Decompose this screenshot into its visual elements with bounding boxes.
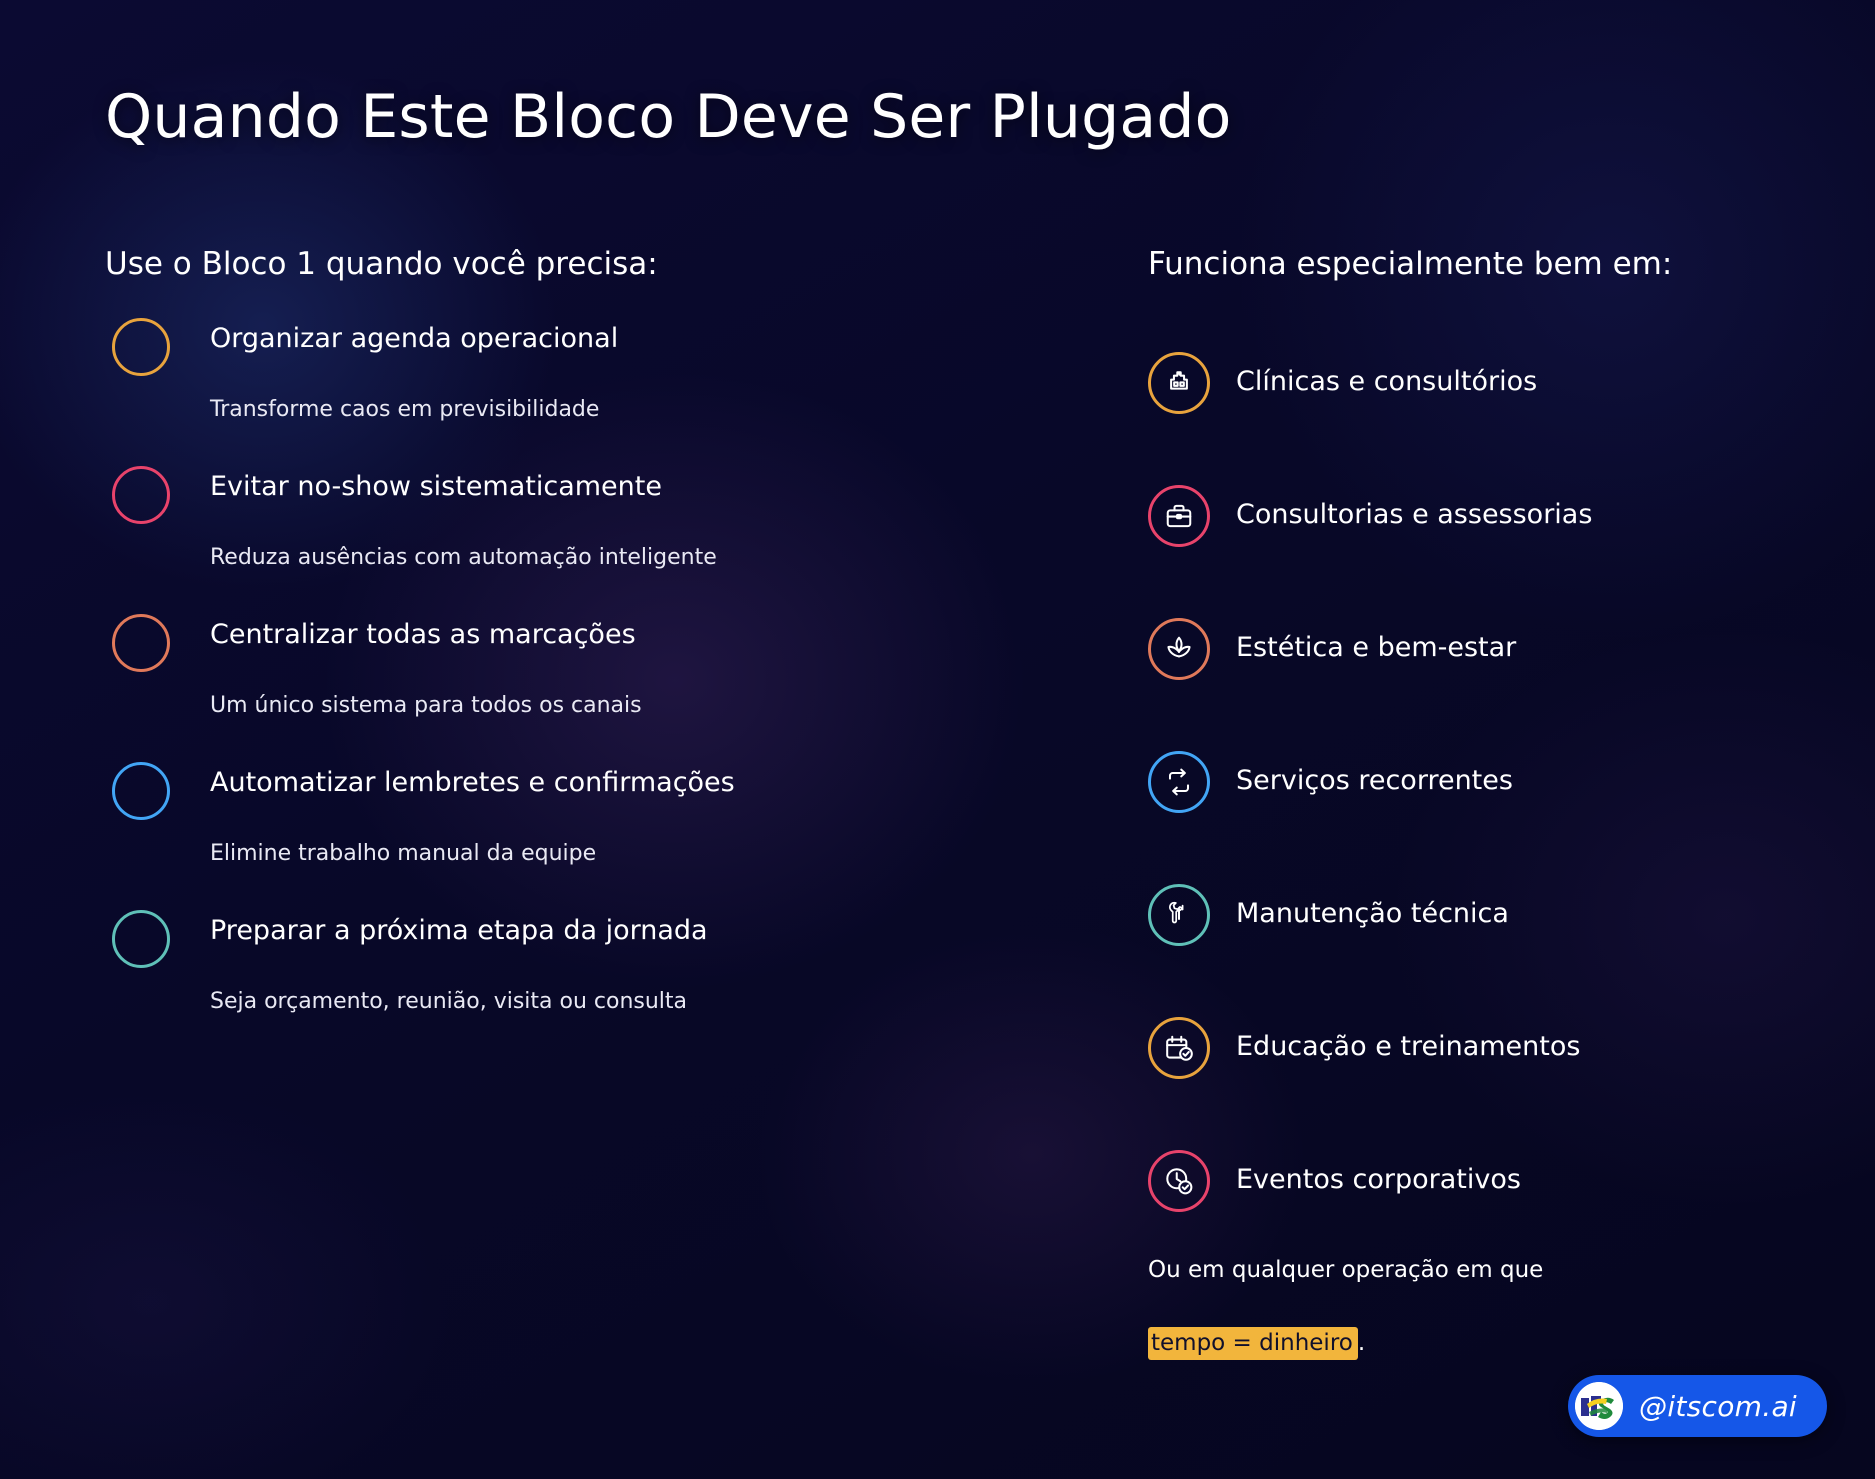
closing-line-1: Ou em qualquer operação em que <box>1148 1255 1788 1286</box>
closing-statement: Ou em qualquer operação em que tempo = d… <box>1148 1255 1788 1359</box>
calendar-check-icon <box>1148 1017 1210 1079</box>
fit-item-label: Estética e bem-estar <box>1236 632 1516 664</box>
need-item: Organizar agenda operacionalTransforme c… <box>105 314 1005 462</box>
fit-item: Estética e bem-estar <box>1148 582 1788 715</box>
circle-outline-icon <box>112 466 170 524</box>
closing-period: . <box>1358 1330 1365 1356</box>
circle-outline-icon <box>112 910 170 968</box>
need-item-title: Centralizar todas as marcações <box>210 610 1005 652</box>
fit-item: Manutenção técnica <box>1148 848 1788 981</box>
repeat-icon <box>1148 751 1210 813</box>
need-item-subtitle: Seja orçamento, reunião, visita ou consu… <box>210 988 1005 1017</box>
clinic-icon <box>1148 352 1210 414</box>
fit-item-label: Clínicas e consultórios <box>1236 366 1537 398</box>
circle-outline-icon <box>112 762 170 820</box>
right-column-heading: Funciona especialmente bem em: <box>1148 242 1788 286</box>
fit-item-label: Consultorias e assessorias <box>1236 499 1592 531</box>
closing-line-2: tempo = dinheiro. <box>1148 1328 1788 1359</box>
fit-item: Clínicas e consultórios <box>1148 316 1788 449</box>
lotus-icon <box>1148 618 1210 680</box>
need-item-title: Evitar no-show sistematicamente <box>210 462 1005 504</box>
fit-item-label: Eventos corporativos <box>1236 1164 1521 1196</box>
left-column: Use o Bloco 1 quando você precisa: Organ… <box>105 242 1005 1054</box>
page-title: Quando Este Bloco Deve Ser Plugado <box>105 82 1232 152</box>
need-item-subtitle: Transforme caos em previsibilidade <box>210 396 1005 425</box>
clock-check-icon <box>1148 1150 1210 1212</box>
circle-outline-icon <box>112 318 170 376</box>
brand-badge[interactable]: @itscom.ai <box>1568 1375 1827 1437</box>
closing-highlight: tempo = dinheiro <box>1148 1327 1358 1360</box>
briefcase-icon <box>1148 485 1210 547</box>
right-column: Funciona especialmente bem em: Clínicas … <box>1148 242 1788 1359</box>
need-item-subtitle: Elimine trabalho manual da equipe <box>210 840 1005 869</box>
need-item-title: Automatizar lembretes e confirmações <box>210 758 1005 800</box>
need-item: Automatizar lembretes e confirmaçõesElim… <box>105 758 1005 906</box>
wrench-icon <box>1148 884 1210 946</box>
need-item: Centralizar todas as marcaçõesUm único s… <box>105 610 1005 758</box>
fit-item: Eventos corporativos <box>1148 1114 1788 1247</box>
need-item: Evitar no-show sistematicamenteReduza au… <box>105 462 1005 610</box>
need-item-subtitle: Reduza ausências com automação inteligen… <box>210 544 1005 573</box>
need-item-title: Preparar a próxima etapa da jornada <box>210 906 1005 948</box>
brand-handle: @itscom.ai <box>1639 1390 1797 1423</box>
left-column-heading: Use o Bloco 1 quando você precisa: <box>105 242 1005 286</box>
fit-item: Consultorias e assessorias <box>1148 449 1788 582</box>
fit-item-label: Serviços recorrentes <box>1236 765 1513 797</box>
fit-item: Educação e treinamentos <box>1148 981 1788 1114</box>
needs-list: Organizar agenda operacionalTransforme c… <box>105 314 1005 1054</box>
circle-outline-icon <box>112 614 170 672</box>
fit-item-label: Educação e treinamentos <box>1236 1031 1580 1063</box>
fit-item: Serviços recorrentes <box>1148 715 1788 848</box>
fit-list: Clínicas e consultóriosConsultorias e as… <box>1148 316 1788 1247</box>
its-logo-icon <box>1575 1382 1623 1430</box>
slide-canvas: Quando Este Bloco Deve Ser Plugado Use o… <box>0 0 1875 1479</box>
need-item-title: Organizar agenda operacional <box>210 314 1005 356</box>
fit-item-label: Manutenção técnica <box>1236 898 1509 930</box>
need-item: Preparar a próxima etapa da jornadaSeja … <box>105 906 1005 1054</box>
need-item-subtitle: Um único sistema para todos os canais <box>210 692 1005 721</box>
